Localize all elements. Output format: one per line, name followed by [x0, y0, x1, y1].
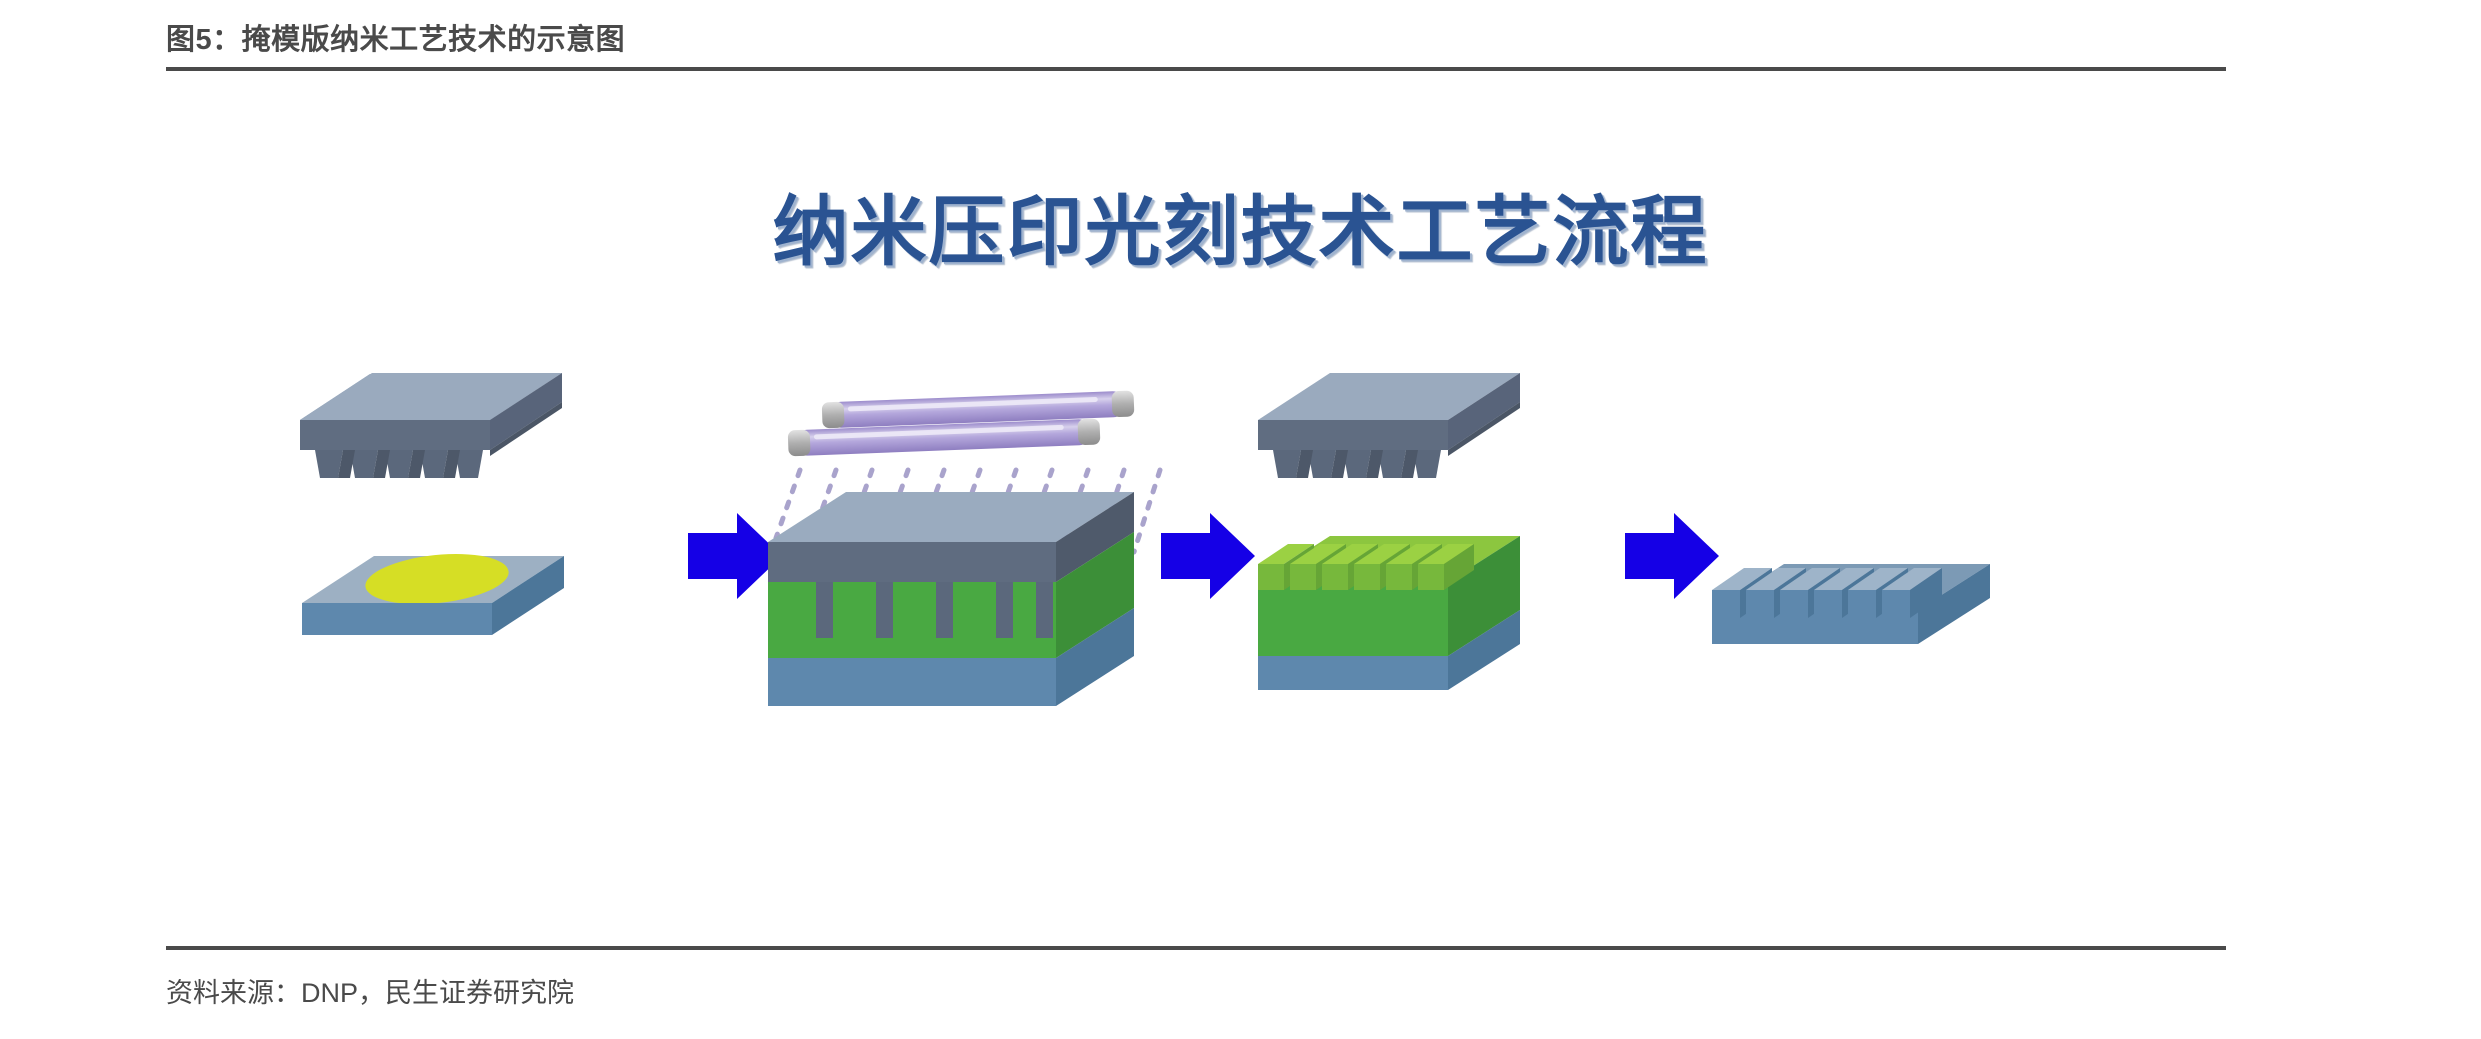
uv-lamps: [788, 390, 1135, 456]
step-4-substrate-ridges: [1712, 568, 1942, 618]
step-2-uv-imprint-exposure: [768, 390, 1160, 706]
step-1-mold-and-coated-substrate: [300, 373, 564, 635]
source-note: 资料来源：DNP，民生证券研究院: [166, 976, 2226, 1010]
diagram-heading: 纳米压印光刻技术工艺流程: [0, 170, 2481, 280]
step-3-patterned-resist: [1258, 536, 1520, 690]
footer-divider: [166, 946, 2226, 950]
header-divider: [166, 67, 2226, 71]
step-1-substrate-with-resist: [302, 548, 564, 635]
step-3-mold-release: [1258, 373, 1520, 690]
step-1-patterned-mold: [300, 373, 562, 478]
step-1-mold-teeth: [315, 450, 483, 478]
step-3-patterned-mold: [1258, 373, 1520, 478]
figure-footer: 资料来源：DNP，民生证券研究院: [166, 946, 2226, 1010]
step-3-mold-teeth: [1273, 450, 1441, 478]
nanoimprint-process-diagram: [0, 360, 2481, 760]
step-2-imprint-stack: [768, 492, 1134, 706]
process-arrow-2: [1161, 513, 1255, 599]
figure-title: 图5：掩模版纳米工艺技术的示意图: [166, 20, 2226, 60]
step-3-resist-ridges: [1258, 544, 1474, 590]
process-arrow-1: [688, 513, 782, 599]
process-arrow-3: [1625, 513, 1719, 599]
step-4-etched-substrate: [1712, 564, 1990, 644]
figure-header: 图5：掩模版纳米工艺技术的示意图: [166, 20, 2226, 71]
